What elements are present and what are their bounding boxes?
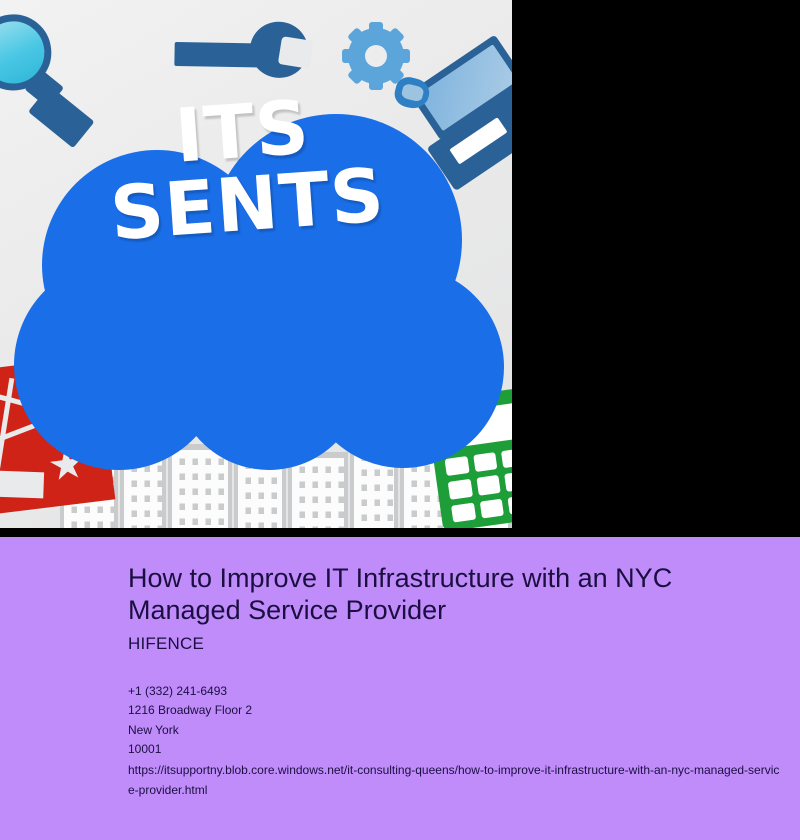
contact-city: New York xyxy=(128,721,780,740)
contact-address-line1: 1216 Broadway Floor 2 xyxy=(128,701,780,720)
brand-name: HIFENCE xyxy=(128,634,780,654)
wrench-icon xyxy=(172,6,312,88)
page-title: How to Improve IT Infrastructure with an… xyxy=(128,563,728,627)
hero-image: ITS SENTS xyxy=(0,0,512,528)
contact-phone: +1 (332) 241-6493 xyxy=(128,682,780,701)
info-panel: How to Improve IT Infrastructure with an… xyxy=(0,537,800,840)
contact-block: +1 (332) 241-6493 1216 Broadway Floor 2 … xyxy=(128,682,780,801)
contact-url[interactable]: https://itsupportny.blob.core.windows.ne… xyxy=(128,761,780,800)
contact-postal-code: 10001 xyxy=(128,740,780,759)
